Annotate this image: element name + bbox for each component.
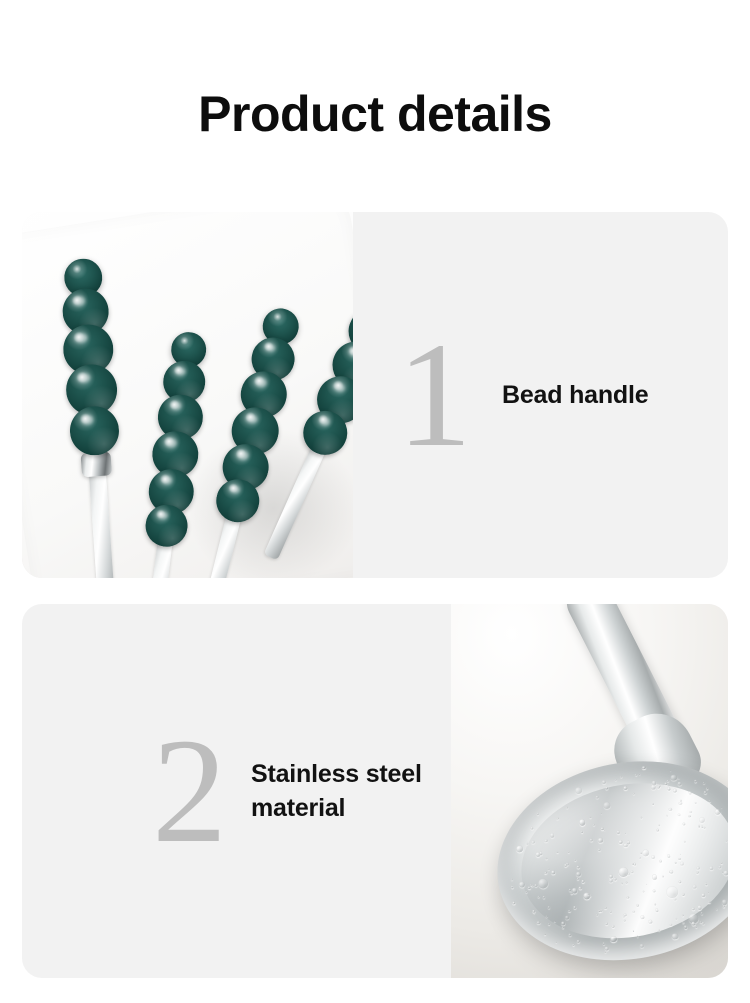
water-droplet [603,802,610,809]
water-droplet [658,929,661,932]
water-droplet [718,865,722,869]
water-droplet [537,878,549,890]
water-droplet [555,941,557,943]
water-droplet [670,770,672,772]
water-droplet [518,881,526,889]
water-droplet [709,866,713,870]
water-droplet [673,897,677,901]
water-droplet [681,914,683,916]
water-droplet [689,791,693,795]
water-droplet [708,901,711,904]
water-droplet [648,920,652,924]
water-droplet [602,780,606,784]
water-droplet [531,840,535,844]
water-droplet [596,796,599,799]
page-title: Product details [0,84,750,144]
detail-section-2: 2 Stainless steel material [22,604,728,978]
water-droplet [678,813,682,817]
water-droplet [700,912,703,915]
water-droplet [616,830,620,834]
water-droplet [604,829,606,831]
water-droplet [625,881,627,883]
water-droplet [581,830,584,833]
step-label-1: Bead handle [502,378,648,412]
water-droplet [605,922,608,925]
water-droplet [566,806,568,808]
water-droplet [600,812,602,814]
water-droplet [700,892,705,897]
water-droplet [537,921,541,925]
water-droplet [678,880,681,883]
water-droplet [611,925,615,929]
water-droplet [567,851,570,854]
water-droplet [604,951,606,953]
water-droplet [574,787,582,795]
water-droplet [624,914,627,917]
water-droplet [704,826,706,828]
water-droplet [620,775,623,778]
water-droplet [640,943,644,947]
water-droplet [604,907,607,910]
water-droplet [693,884,697,888]
water-droplet [536,812,539,815]
water-droplet [593,823,595,825]
water-droplet [510,879,512,881]
water-droplet [640,915,644,919]
water-droplet [573,906,576,909]
water-droplet [724,870,728,876]
water-droplet [597,848,601,852]
water-droplet [651,855,655,859]
water-droplet [577,940,580,943]
water-droplet [678,777,680,779]
water-droplet [625,833,627,835]
water-droplet [623,920,625,922]
water-droplet [708,800,710,802]
water-droplet [630,870,634,874]
water-droplet [656,828,660,832]
water-droplet [635,774,637,776]
water-droplet [714,809,721,816]
water-droplet [695,802,697,804]
water-droplet [699,816,706,823]
water-droplet [526,890,528,892]
step-number-1: 1 [397,336,472,454]
water-droplet [549,832,555,838]
water-droplet [578,886,581,889]
water-droplet [678,801,682,805]
water-droplet [545,857,547,859]
water-droplet [545,916,547,918]
water-droplet [669,923,672,926]
product-photo-stainless-spoon [451,604,728,978]
water-droplet [512,901,516,905]
water-droplet [636,935,638,937]
water-droplet [695,926,697,928]
water-droplet [674,862,676,864]
water-droplet [703,782,705,784]
water-droplet [682,893,685,896]
water-droplet [675,918,678,921]
water-droplet [614,778,617,781]
water-droplet [602,942,605,945]
water-droplet [565,916,569,920]
water-droplet [526,842,529,845]
water-droplet [605,786,609,790]
water-droplet [556,851,559,854]
water-droplet [701,825,704,828]
water-droplet [576,865,580,869]
water-droplet [530,826,534,830]
water-droplet [684,840,687,843]
spoon-bowl [480,739,728,978]
water-droplet [632,910,635,913]
water-droplet [678,857,681,860]
water-droplet [639,773,641,775]
water-droplets [480,739,728,978]
water-droplet [662,875,665,878]
water-droplet [556,817,559,820]
water-droplet [633,793,635,795]
water-droplet [697,905,703,911]
water-droplet [659,859,663,863]
water-droplet [653,889,656,892]
water-droplet [666,815,668,817]
water-droplet [544,934,546,936]
water-droplet [627,897,629,899]
water-droplet [568,909,571,912]
water-droplet [696,866,700,870]
water-droplet [589,816,592,819]
water-droplet [575,871,581,877]
water-droplet [562,926,565,929]
water-droplet [720,862,722,864]
water-droplet [623,786,627,790]
water-droplet [547,906,550,909]
water-droplet [568,933,572,937]
water-droplet [646,883,648,885]
water-droplet [669,808,673,812]
water-droplet [673,788,677,792]
water-droplet [632,930,634,932]
water-droplet [516,845,524,853]
water-droplet [696,871,700,875]
step-number-2: 2 [152,732,227,850]
water-droplet [666,854,670,858]
water-droplet [544,838,548,842]
water-droplet [680,853,682,855]
water-droplet [626,840,630,844]
water-droplet [692,907,695,910]
water-droplet [688,815,691,818]
water-droplet [683,925,687,929]
water-droplet [548,868,550,870]
water-droplet [572,944,574,946]
water-droplet [667,787,671,791]
water-droplet [721,807,723,809]
water-droplet [548,923,551,926]
water-droplet [610,935,618,943]
detail-section-1: 1 Bead handle [22,212,728,578]
water-droplet [609,910,612,913]
water-droplet [652,803,654,805]
water-droplet [655,908,659,912]
water-droplet [601,827,604,830]
water-droplet [583,892,591,900]
water-droplet [680,800,682,802]
water-droplet [579,819,586,826]
water-droplet [689,811,691,813]
water-droplet [671,932,679,940]
product-photo-bead-handle [22,212,353,578]
water-droplet [542,896,545,899]
water-droplet [577,878,579,880]
water-droplet [707,892,709,894]
water-droplet [537,896,539,898]
water-droplet [651,874,658,881]
water-droplet [609,878,613,882]
water-droplet [725,840,727,842]
caption-1: 1 Bead handle [353,212,728,578]
water-droplet [658,824,660,826]
water-droplet [705,882,708,885]
water-droplet [642,890,644,892]
water-droplet [680,862,684,866]
water-droplet [566,863,569,866]
water-droplet [535,851,541,857]
water-droplet [534,884,537,887]
water-droplet [596,913,598,915]
step-label-2: Stainless steel material [251,757,451,825]
water-droplet [678,781,682,785]
water-droplet [664,782,667,785]
water-droplet [574,859,576,861]
water-droplet [716,908,718,910]
water-droplet [682,822,686,826]
water-droplet [554,920,556,922]
water-droplet [656,785,659,788]
water-droplet [544,871,547,874]
water-droplet [582,880,585,883]
water-droplet [613,877,617,881]
water-droplet [706,787,708,789]
water-droplet [640,816,643,819]
water-droplet [551,870,555,874]
water-droplet [666,780,668,782]
water-droplet [618,840,622,844]
water-droplet [665,885,679,899]
water-droplet [511,886,514,889]
water-droplet [642,766,646,770]
water-droplet [590,839,593,842]
water-droplet [704,790,707,793]
water-droplet [639,857,641,859]
water-droplet [635,903,639,907]
water-droplet [654,904,656,906]
water-droplet [621,882,623,884]
water-droplet [617,866,629,878]
handle-bead [68,405,120,457]
water-droplet [641,848,650,857]
water-droplet [694,780,696,782]
caption-2: 2 Stainless steel material [22,604,451,978]
water-droplet [598,838,603,843]
water-droplet [723,905,725,907]
water-droplet [571,892,573,894]
